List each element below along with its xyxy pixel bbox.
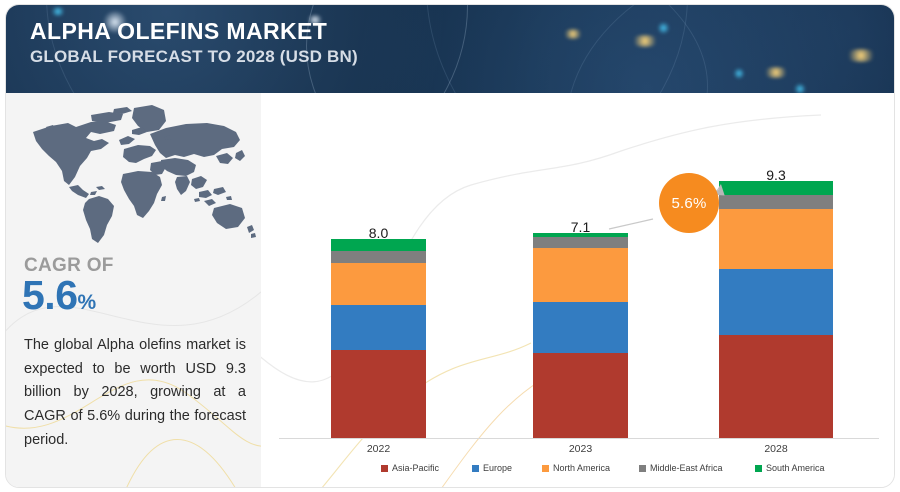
stacked-bar-2028	[719, 181, 833, 438]
page-title: ALPHA OLEFINS MARKET	[30, 19, 358, 45]
cagr-number: 5.6	[22, 272, 78, 318]
legend-label: North America	[553, 463, 610, 473]
legend-swatch-icon	[542, 465, 549, 472]
page-subtitle: GLOBAL FORECAST TO 2028 (USD BN)	[30, 47, 358, 67]
segment-middle-east-africa	[533, 237, 628, 248]
world-map	[16, 101, 256, 251]
cagr-value: 5.6%	[22, 275, 96, 316]
legend-swatch-icon	[472, 465, 479, 472]
world-map-icon	[16, 101, 256, 251]
chart-legend: Asia-Pacific Europe North America Middle…	[261, 458, 895, 478]
segment-south-america	[331, 239, 426, 251]
market-description: The global Alpha olefins market is expec…	[24, 334, 246, 452]
legend-item-north-america[interactable]: North America	[542, 463, 610, 473]
x-axis-line	[279, 438, 879, 439]
chart-panel: 8.0 2022 7.1 2023	[261, 93, 895, 488]
header-glint	[794, 83, 806, 93]
legend-item-south-america[interactable]: South America	[755, 463, 825, 473]
infographic-frame: ALPHA OLEFINS MARKET GLOBAL FORECAST TO …	[5, 4, 895, 488]
stacked-bar-2022	[331, 239, 426, 438]
segment-asia-pacific	[719, 335, 833, 438]
header-banner: ALPHA OLEFINS MARKET GLOBAL FORECAST TO …	[6, 5, 895, 93]
header-glint	[562, 29, 584, 39]
infographic-root: ALPHA OLEFINS MARKET GLOBAL FORECAST TO …	[0, 0, 900, 492]
legend-label: South America	[766, 463, 825, 473]
header-glint	[630, 35, 660, 47]
cagr-callout-value: 5.6%	[672, 195, 707, 212]
legend-item-middle-east-africa[interactable]: Middle-East Africa	[639, 463, 723, 473]
legend-item-asia-pacific[interactable]: Asia-Pacific	[381, 463, 439, 473]
cagr-callout-bubble: 5.6%	[659, 173, 719, 233]
header-glint	[734, 67, 744, 80]
segment-asia-pacific	[331, 350, 426, 438]
segment-middle-east-africa	[331, 251, 426, 263]
segment-south-america	[719, 181, 833, 195]
cagr-percent-sign: %	[78, 291, 96, 314]
plot-area: 8.0 2022 7.1 2023	[261, 93, 895, 488]
stacked-bar-2023	[533, 233, 628, 438]
segment-asia-pacific	[533, 353, 628, 438]
segment-north-america	[533, 248, 628, 302]
segment-europe	[533, 302, 628, 353]
header-glint	[50, 7, 66, 16]
segment-europe	[331, 305, 426, 350]
sidebar: CAGR OF 5.6% The global Alpha olefins ma…	[6, 93, 261, 488]
legend-label: Europe	[483, 463, 512, 473]
header-glint	[762, 67, 790, 78]
header-glint	[844, 49, 878, 62]
segment-north-america	[331, 263, 426, 305]
category-label-2022: 2022	[331, 443, 426, 455]
segment-europe	[719, 269, 833, 335]
category-label-2023: 2023	[533, 443, 628, 455]
legend-swatch-icon	[381, 465, 388, 472]
legend-swatch-icon	[639, 465, 646, 472]
header-glint	[658, 21, 669, 35]
legend-swatch-icon	[755, 465, 762, 472]
legend-label: Asia-Pacific	[392, 463, 439, 473]
segment-middle-east-africa	[719, 195, 833, 209]
category-label-2028: 2028	[719, 443, 833, 455]
header-text-block: ALPHA OLEFINS MARKET GLOBAL FORECAST TO …	[30, 19, 358, 66]
segment-north-america	[719, 209, 833, 269]
legend-item-europe[interactable]: Europe	[472, 463, 512, 473]
legend-label: Middle-East Africa	[650, 463, 723, 473]
